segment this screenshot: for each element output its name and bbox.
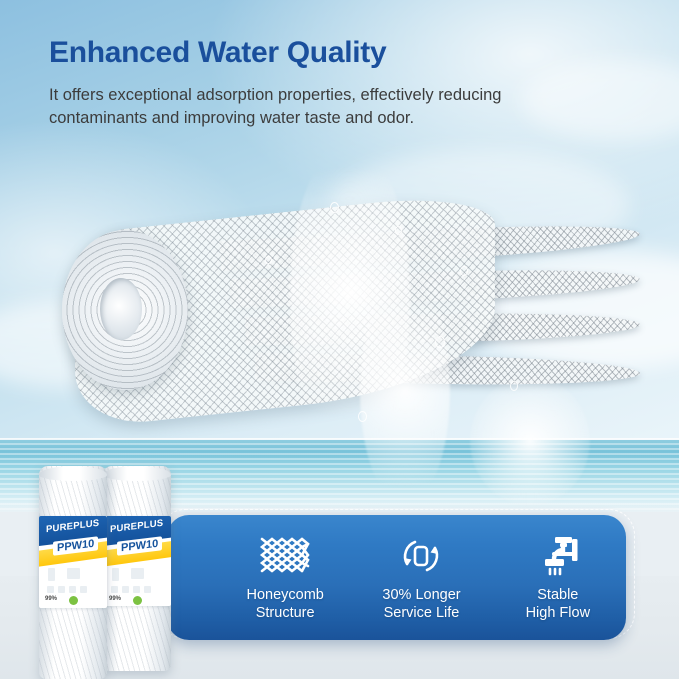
water-splash — [470, 376, 590, 506]
water-droplet — [435, 336, 445, 348]
label-efficiency-text: 99% — [45, 596, 57, 602]
cartridge-top — [39, 466, 107, 481]
label-efficiency-text: 99% — [109, 596, 121, 602]
label-spec-icon — [133, 586, 140, 593]
feature-label: Stable High Flow — [526, 586, 590, 622]
feature-card: Honeycomb Structure 30% Longer Service L… — [167, 515, 626, 640]
page-title: Enhanced Water Quality — [49, 36, 386, 70]
water-droplet — [265, 256, 272, 264]
label-spec-icon — [58, 586, 65, 593]
label-spec-icon — [122, 586, 129, 593]
label-certification-badge — [133, 596, 142, 605]
label-certification-badge — [69, 596, 78, 605]
label-spec-icon — [69, 586, 76, 593]
filter-mesh-roll-image — [40, 196, 650, 446]
label-spec-icon — [80, 586, 87, 593]
cartridge-label: PUREPLUS PPW10 99% — [39, 516, 107, 608]
water-droplet — [358, 411, 367, 422]
cartridge-label: PUREPLUS PPW10 99% — [103, 516, 171, 606]
page-subtitle: It offers exceptional adsorption propert… — [49, 84, 594, 130]
feature-label: 30% Longer Service Life — [382, 586, 460, 622]
label-spec-icon — [131, 568, 144, 579]
label-spec-icon — [111, 586, 118, 593]
mesh-roll-core — [100, 278, 142, 340]
water-droplet — [395, 226, 402, 235]
label-spec-icon — [47, 586, 54, 593]
label-spec-icon — [67, 568, 80, 579]
feature-item-honeycomb-structure[interactable]: Honeycomb Structure — [167, 533, 353, 622]
label-spec-icon — [112, 568, 119, 581]
water-droplet — [510, 381, 518, 391]
label-spec-icon — [144, 586, 151, 593]
label-spec-icon — [48, 568, 55, 581]
faucet-flow-icon — [534, 533, 582, 579]
water-splash — [360, 276, 450, 506]
honeycomb-mesh-icon — [258, 533, 312, 579]
filter-cartridge: PUREPLUS PPW10 99% — [103, 466, 171, 671]
filter-cartridge: PUREPLUS PPW10 99% — [39, 466, 107, 679]
water-droplet — [330, 202, 339, 213]
water-droplet — [460, 266, 468, 276]
feature-item-service-life[interactable]: 30% Longer Service Life — [353, 533, 489, 622]
feature-item-high-flow[interactable]: Stable High Flow — [490, 533, 626, 622]
cartridge-top — [103, 466, 171, 481]
product-banner: Enhanced Water Quality It offers excepti… — [0, 0, 679, 679]
service-life-refresh-icon — [398, 533, 444, 579]
feature-label: Honeycomb Structure — [246, 586, 323, 622]
